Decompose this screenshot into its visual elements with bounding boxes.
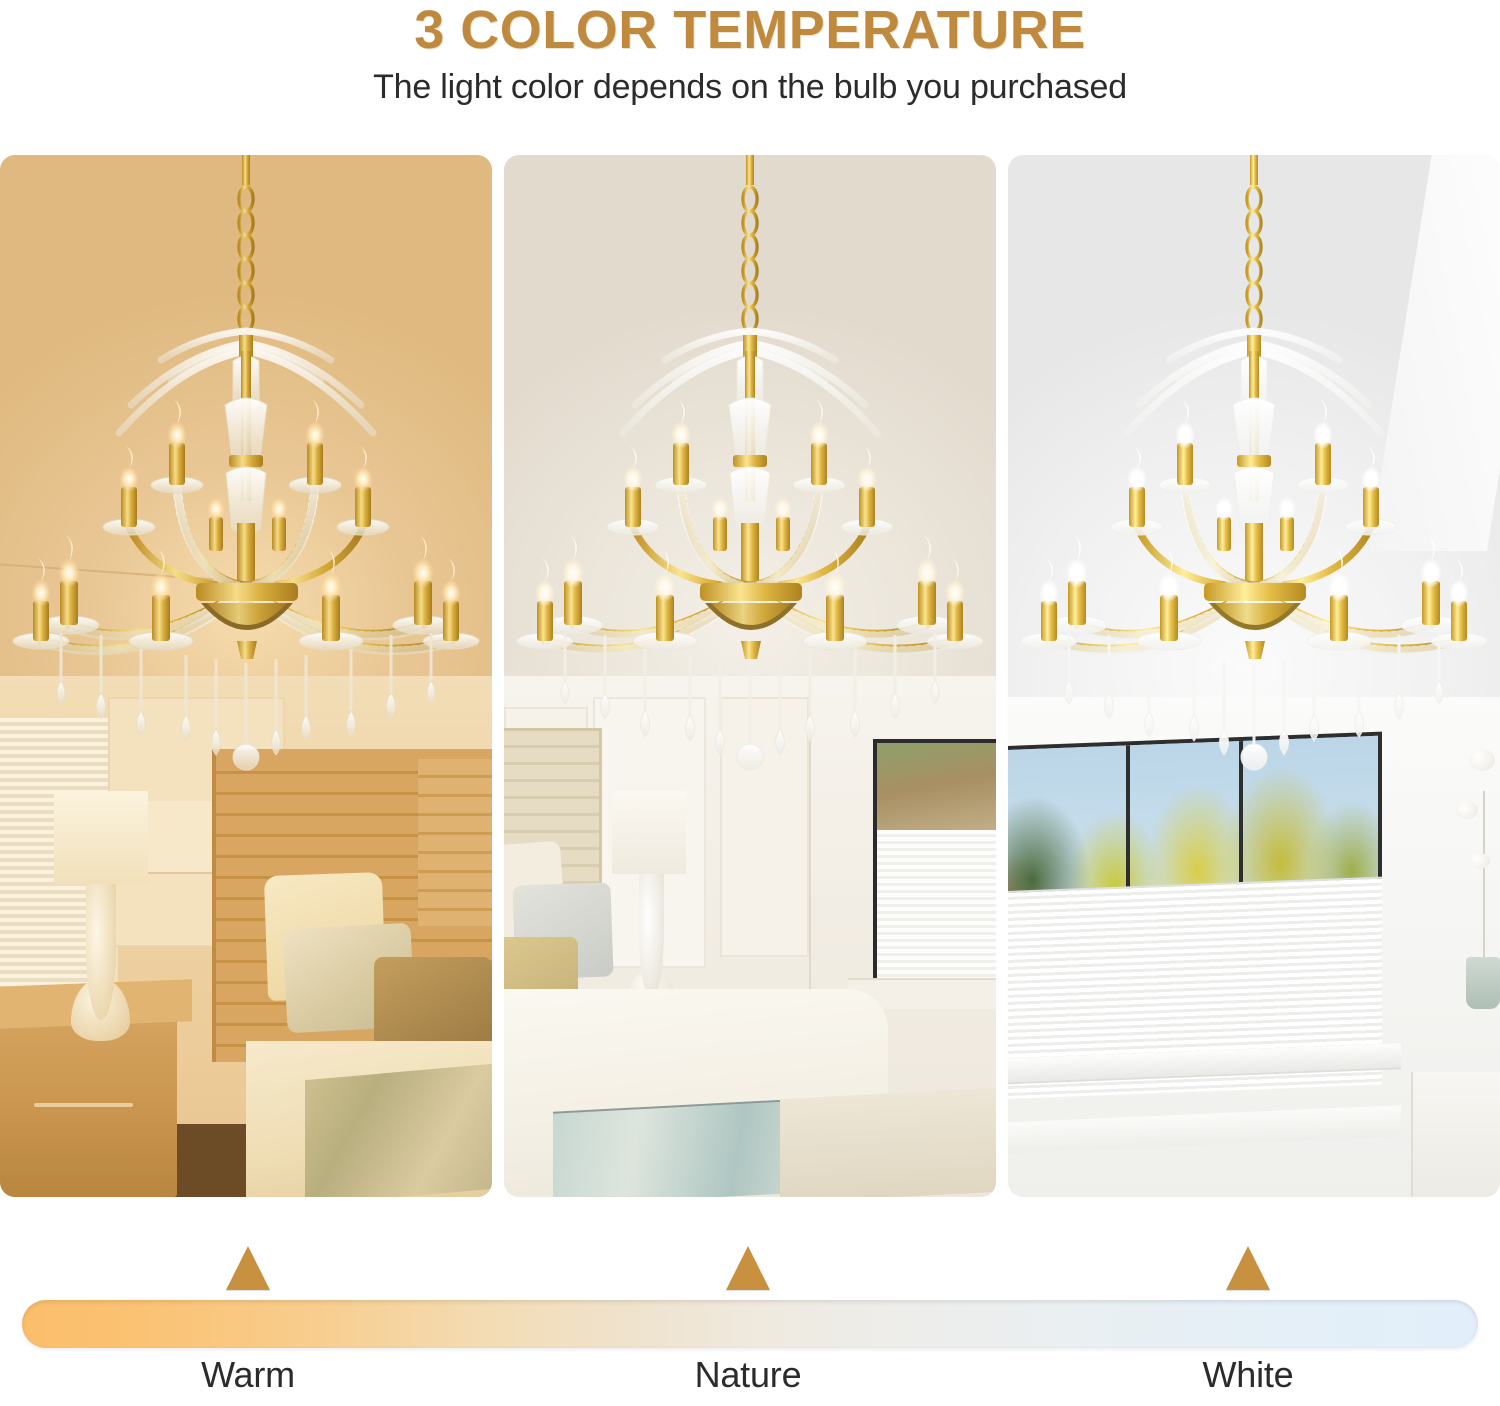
orchid-icon <box>1456 801 1478 819</box>
marker-arrow-warm <box>226 1246 270 1290</box>
table-lamp <box>612 791 686 874</box>
label-warm: Warm <box>88 1354 408 1396</box>
marker-arrow-white <box>1226 1246 1270 1290</box>
chandelier-warm <box>11 155 481 775</box>
product-infographic: 3 COLOR TEMPERATURE The light color depe… <box>0 0 1500 1406</box>
marker-arrow-nature <box>726 1246 770 1290</box>
window <box>873 739 996 989</box>
panel-warm <box>0 155 492 1197</box>
bench <box>780 1087 996 1197</box>
table-lamp <box>54 791 147 885</box>
label-nature: Nature <box>588 1354 908 1396</box>
color-temperature-slider: Warm Nature White <box>0 1232 1500 1406</box>
panel-row <box>0 155 1500 1197</box>
panel-nature <box>504 155 996 1197</box>
chandelier-nature <box>515 155 985 775</box>
page-subtitle: The light color depends on the bulb you … <box>0 58 1500 106</box>
chandelier-white <box>1019 155 1489 775</box>
page-title: 3 COLOR TEMPERATURE <box>0 0 1500 58</box>
header: 3 COLOR TEMPERATURE The light color depe… <box>0 0 1500 106</box>
panel-white <box>1008 155 1500 1197</box>
temperature-gradient-bar <box>22 1300 1478 1348</box>
label-white: White <box>1088 1354 1408 1396</box>
